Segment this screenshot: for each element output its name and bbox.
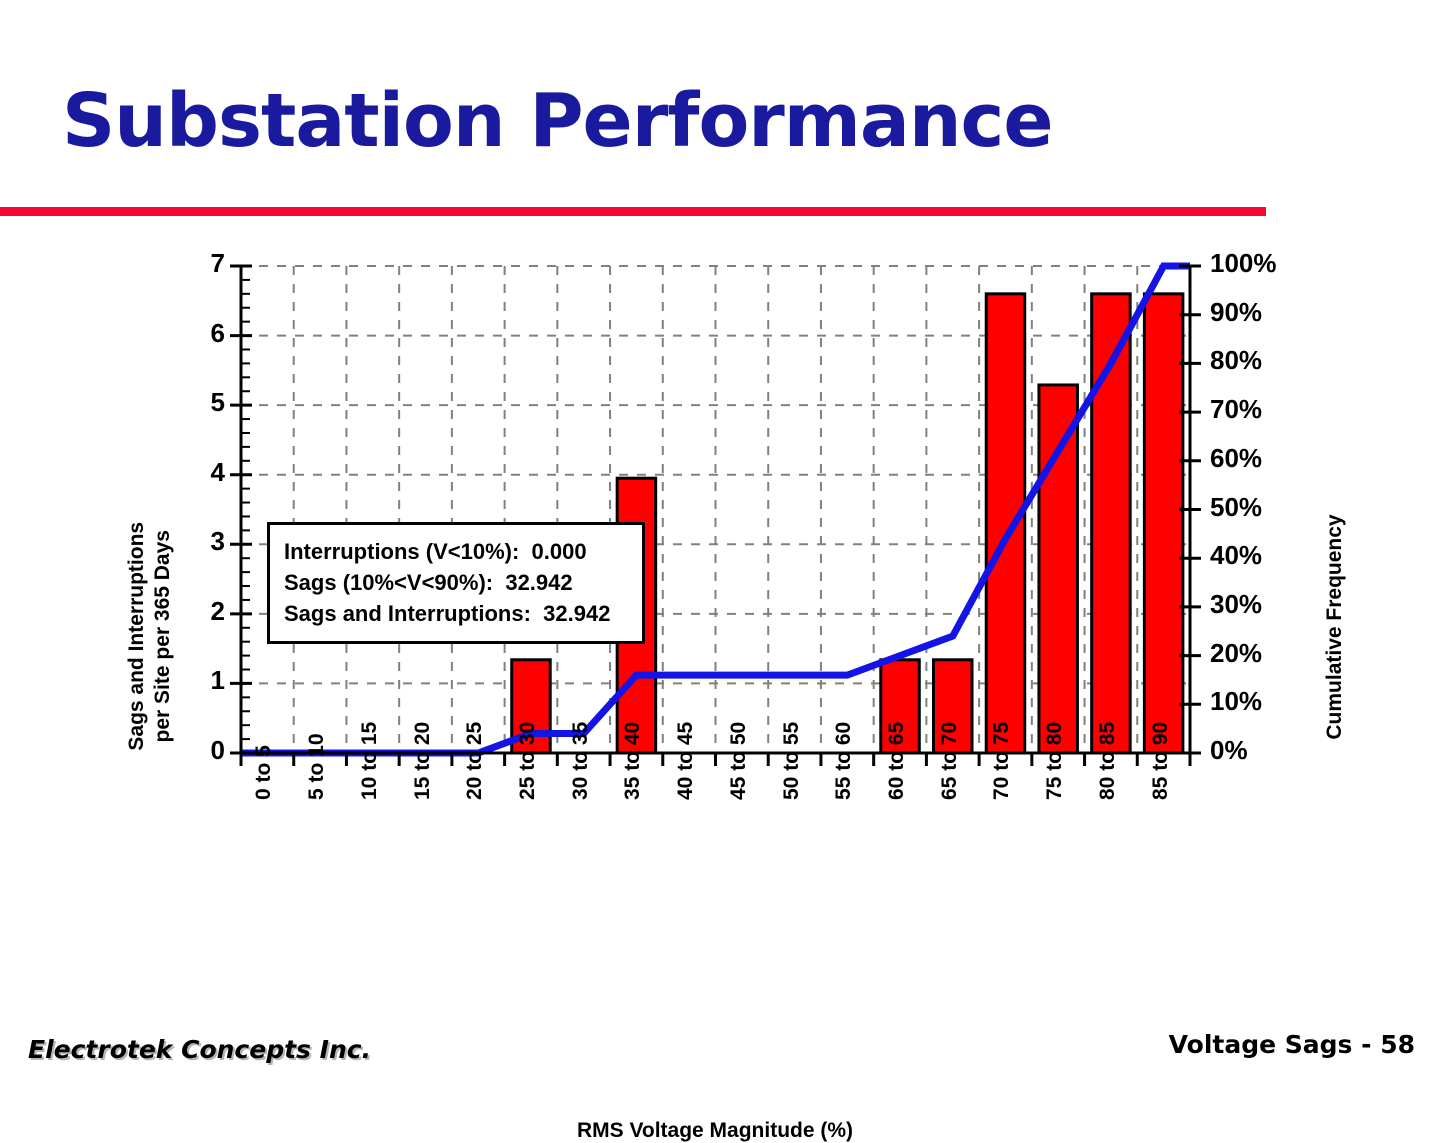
x-axis-tick-60-to-65: 60 to 65 [885, 722, 909, 800]
x-axis-tick-75-to-80: 75 to 80 [1043, 722, 1067, 800]
annotation-line-sags: Sags (10%<V<90%): 32.942 [284, 567, 642, 598]
left-axis-tick-3: 3 [211, 526, 225, 557]
annotation-line-interruptions: Interruptions (V<10%): 0.000 [284, 536, 642, 567]
x-axis-tick-20-to-25: 20 to 25 [463, 722, 487, 800]
left-axis-tick-0: 0 [211, 735, 225, 766]
left-axis-title-line1: Sags and Interruptions [125, 522, 148, 751]
right-axis-tick-30pct: 30% [1210, 589, 1262, 620]
x-axis-tick-10-to-15: 10 to 15 [358, 722, 382, 800]
x-axis-tick-15-to-20: 15 to 20 [411, 722, 435, 800]
chart-container: 01234567 0%10%20%30%40%50%60%70%80%90%10… [0, 230, 1429, 930]
x-axis-tick-80-to-85: 80 to 85 [1096, 722, 1120, 800]
x-axis-tick-70-to-75: 70 to 75 [990, 722, 1014, 800]
x-axis-tick-5-to-10: 5 to 10 [305, 733, 329, 800]
x-axis-tick-40-to-45: 40 to 45 [674, 722, 698, 800]
left-axis-tick-5: 5 [211, 387, 225, 418]
right-axis-tick-70pct: 70% [1210, 394, 1262, 425]
left-axis-tick-4: 4 [211, 457, 225, 488]
right-axis-tick-10pct: 10% [1210, 686, 1262, 717]
right-axis-tick-20pct: 20% [1210, 638, 1262, 669]
annotation-line-sags-and-interruptions: Sags and Interruptions: 32.942 [284, 598, 642, 629]
left-axis-tick-7: 7 [211, 248, 225, 279]
x-axis-tick-50-to-55: 50 to 55 [780, 722, 804, 800]
left-axis-title-line2: per Site per 365 Days [151, 530, 174, 742]
page-title: Substation Performance [62, 78, 1053, 164]
x-axis-tick-25-to-30: 25 to 30 [516, 722, 540, 800]
right-axis-tick-40pct: 40% [1210, 540, 1262, 571]
left-axis-tick-6: 6 [211, 318, 225, 349]
x-axis-tick-30-to-35: 30 to 35 [569, 722, 593, 800]
statistics-annotation-box: Interruptions (V<10%): 0.000 Sags (10%<V… [267, 522, 645, 644]
title-divider [0, 207, 1266, 216]
x-axis-tick-0-to-5: 0 to 5 [252, 745, 276, 800]
right-axis-tick-100pct: 100% [1210, 248, 1277, 279]
x-axis-title: RMS Voltage Magnitude (%) [240, 1119, 1190, 1143]
right-axis-title: Cumulative Frequency [1323, 477, 1347, 777]
right-axis-tick-60pct: 60% [1210, 443, 1262, 474]
left-axis-tick-1: 1 [211, 665, 225, 696]
right-axis-tick-50pct: 50% [1210, 492, 1262, 523]
x-axis-tick-85-to-90: 85 to 90 [1149, 722, 1173, 800]
footer-page: Voltage Sags - 58 [1169, 1030, 1415, 1059]
right-axis-tick-80pct: 80% [1210, 345, 1262, 376]
x-axis-tick-65-to-70: 65 to 70 [938, 722, 962, 800]
x-axis-tick-45-to-50: 45 to 50 [727, 722, 751, 800]
right-axis-tick-90pct: 90% [1210, 297, 1262, 328]
right-axis-tick-0pct: 0% [1210, 735, 1248, 766]
left-axis-title: Sags and Interruptions per Site per 365 … [124, 476, 177, 796]
x-axis-tick-35-to-40: 35 to 40 [621, 722, 645, 800]
x-axis-tick-55-to-60: 55 to 60 [832, 722, 856, 800]
footer-company: Electrotek Concepts Inc. [28, 1035, 371, 1064]
left-axis-tick-2: 2 [211, 596, 225, 627]
